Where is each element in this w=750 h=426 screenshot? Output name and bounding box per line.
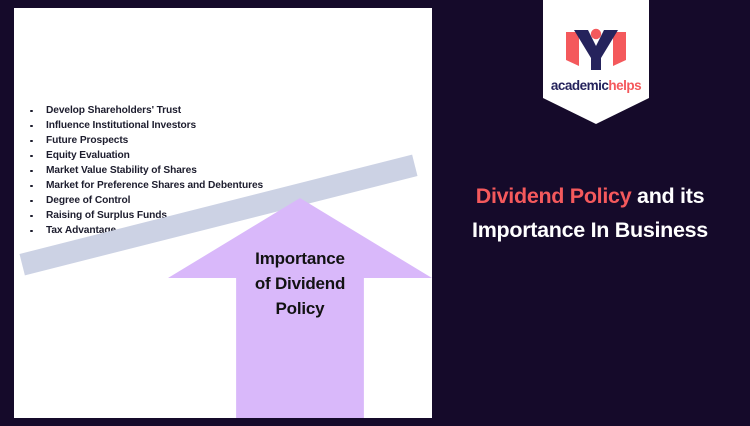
white-content-panel: Develop Shareholders' Trust Influence In… [14, 8, 432, 418]
logo-wordmark-helps: helps [608, 78, 641, 93]
academichelps-y-mark-icon [566, 26, 626, 74]
list-item: Influence Institutional Investors [14, 118, 314, 133]
infographic-banner: Develop Shareholders' Trust Influence In… [0, 0, 750, 426]
logo-wordmark: academichelps [543, 78, 649, 93]
arrow-caption-line-2: of Dividend [168, 271, 432, 296]
list-item: Future Prospects [14, 133, 314, 148]
arrow-caption-line-1: Importance [168, 246, 432, 271]
page-title: Dividend Policy and its Importance In Bu… [440, 179, 740, 247]
arrow-caption-line-3: Policy [168, 296, 432, 321]
title-line-2: Importance In Business [440, 213, 740, 247]
list-item: Develop Shareholders' Trust [14, 103, 314, 118]
list-item: Equity Evaluation [14, 148, 314, 163]
title-accent-text: Dividend Policy [476, 184, 632, 208]
list-item: Market Value Stability of Shares [14, 163, 314, 178]
title-line-1: Dividend Policy and its [440, 179, 740, 213]
arrow-caption: Importance of Dividend Policy [168, 246, 432, 321]
logo-wordmark-academic: academic [551, 78, 609, 93]
title-plain-text: and its [631, 184, 704, 208]
